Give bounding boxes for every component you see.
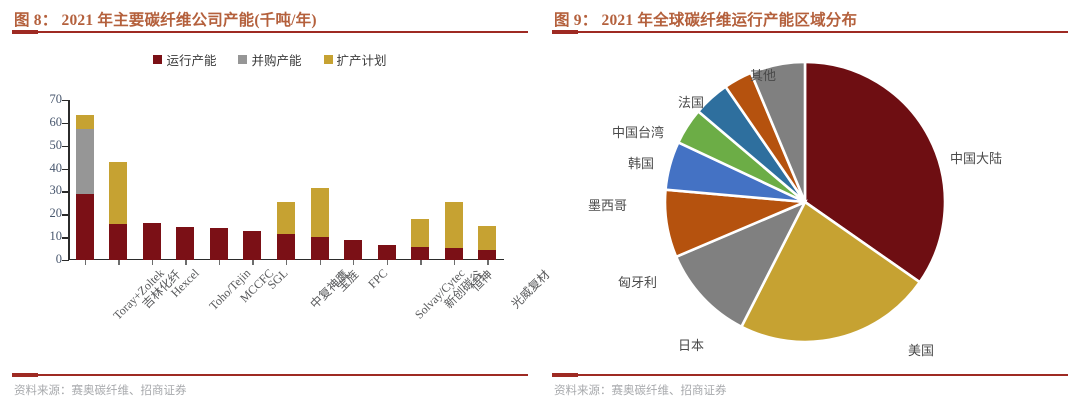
- bar-column: [109, 162, 127, 260]
- bar-column: [76, 115, 94, 260]
- y-axis-tick-label: 20: [30, 206, 62, 221]
- bar-segment: [378, 245, 396, 260]
- pie-slice-label: 日本: [678, 335, 704, 354]
- bar-segment: [411, 219, 429, 247]
- legend-swatch-acquired: [238, 55, 247, 64]
- bar-series-group: [68, 100, 504, 260]
- figure-8-source: 资料来源：赛奥碳纤维、招商证券: [14, 382, 187, 398]
- y-axis-tick-label: 50: [30, 138, 62, 153]
- bar-segment: [277, 234, 295, 260]
- legend-label-expansion: 扩产计划: [337, 50, 387, 69]
- pie-slice-label: 匈牙利: [618, 272, 657, 291]
- bar-chart-legend: 运行产能 并购产能 扩产计划: [0, 50, 540, 69]
- bar-segment: [76, 129, 94, 194]
- bar-segment: [478, 250, 496, 261]
- legend-item-expansion: 扩产计划: [324, 50, 387, 69]
- figure-9-source: 资料来源：赛奥碳纤维、招商证券: [554, 382, 727, 398]
- capacity-bar-chart: 010203040506070 Toray+Zoltek吉林化纤HexcelTo…: [0, 86, 540, 356]
- y-axis-tick-label: 10: [30, 229, 62, 244]
- bar-segment: [411, 247, 429, 260]
- bar-column: [411, 219, 429, 260]
- pie-slice-label: 中国台湾: [612, 122, 664, 141]
- bar-segment: [344, 240, 362, 260]
- legend-item-operating: 运行产能: [153, 50, 216, 69]
- bar-column: [311, 188, 329, 260]
- bar-column: [344, 240, 362, 260]
- bar-column: [277, 202, 295, 260]
- figure-9-title: 图 9： 2021 年全球碳纤维运行产能区域分布: [554, 8, 1066, 30]
- legend-label-acquired: 并购产能: [251, 50, 301, 69]
- y-axis-tick-label: 70: [30, 92, 62, 107]
- bar-column: [243, 231, 261, 260]
- figure-9-panel: 图 9： 2021 年全球碳纤维运行产能区域分布 中国大陆美国日本匈牙利墨西哥韩…: [540, 0, 1080, 406]
- legend-item-acquired: 并购产能: [238, 50, 301, 69]
- legend-swatch-operating: [153, 55, 162, 64]
- bar-segment: [243, 231, 261, 260]
- bar-segment: [76, 115, 94, 129]
- figure-8-footer-rule: [12, 374, 528, 376]
- bar-column: [176, 227, 194, 260]
- bar-segment: [445, 248, 463, 260]
- pie-slice-label: 墨西哥: [588, 195, 627, 214]
- bar-segment: [445, 202, 463, 248]
- report-figure-page: 图 8： 2021 年主要碳纤维公司产能(千吨/年) 运行产能 并购产能 扩产计…: [0, 0, 1080, 406]
- y-axis-tick-label: 60: [30, 115, 62, 130]
- bar-column: [445, 202, 463, 260]
- pie-slice-label: 其他: [750, 65, 776, 84]
- bar-segment: [311, 188, 329, 237]
- bar-column: [143, 223, 161, 260]
- y-axis-tick-label: 30: [30, 183, 62, 198]
- bar-column: [378, 245, 396, 260]
- bar-column: [478, 226, 496, 261]
- bar-segment: [109, 162, 127, 224]
- x-axis-label: FPC: [365, 266, 391, 292]
- figure-9-title-rule: [552, 31, 1068, 33]
- x-axis-labels: Toray+Zoltek吉林化纤HexcelToho/TejinMCCFCSGL…: [0, 262, 540, 356]
- figure-8-panel: 图 8： 2021 年主要碳纤维公司产能(千吨/年) 运行产能 并购产能 扩产计…: [0, 0, 540, 406]
- legend-label-operating: 运行产能: [166, 50, 216, 69]
- bar-segment: [311, 237, 329, 260]
- pie-slice-label: 韩国: [628, 153, 654, 172]
- bar-segment: [109, 224, 127, 260]
- bar-segment: [176, 227, 194, 260]
- bar-segment: [143, 223, 161, 260]
- figure-9-footer-rule: [552, 374, 1068, 376]
- figure-8-title: 图 8： 2021 年主要碳纤维公司产能(千吨/年): [14, 8, 526, 30]
- bar-segment: [210, 228, 228, 260]
- bar-column: [210, 228, 228, 260]
- pie-slice-label: 中国大陆: [950, 148, 1002, 167]
- pie-slice-label: 美国: [908, 340, 934, 359]
- region-pie-chart: 中国大陆美国日本匈牙利墨西哥韩国中国台湾法国其他: [540, 40, 1080, 360]
- y-axis-tick-label: 40: [30, 161, 62, 176]
- legend-swatch-expansion: [324, 55, 333, 64]
- pie-slice-label: 法国: [678, 92, 704, 111]
- bar-segment: [277, 202, 295, 234]
- bar-segment: [76, 194, 94, 260]
- figure-8-title-rule: [12, 31, 528, 33]
- bar-segment: [478, 226, 496, 250]
